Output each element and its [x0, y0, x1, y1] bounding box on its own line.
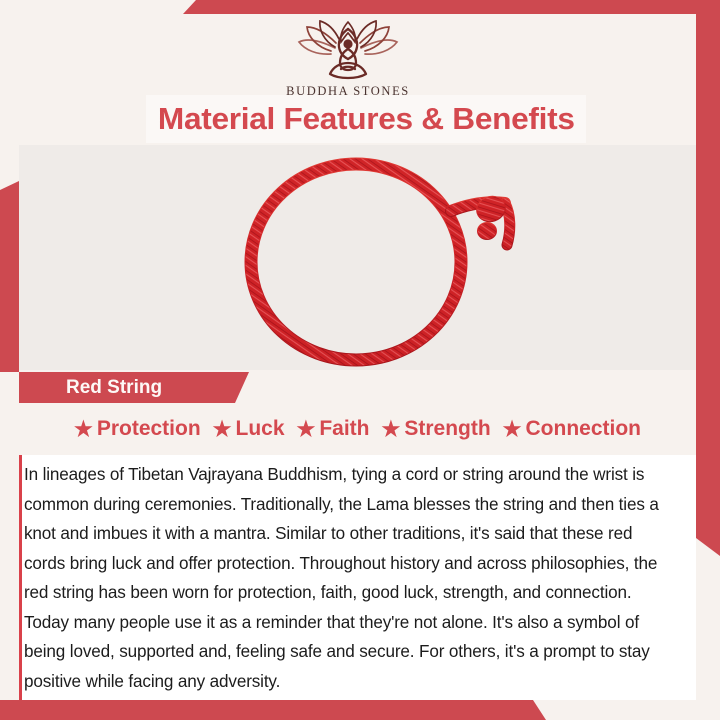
page-title: Material Features & Benefits [146, 95, 586, 143]
benefit-item-luck: ★ Luck [207, 417, 291, 441]
product-label-ribbon: Red String [19, 372, 249, 403]
description-text: In lineages of Tibetan Vajrayana Buddhis… [24, 460, 676, 696]
lotus-meditation-icon [289, 20, 407, 82]
product-label-text: Red String [66, 377, 162, 399]
benefit-item-faith: ★ Faith [291, 417, 376, 441]
benefits-row: ★ Protection ★ Luck ★ Faith ★ Strength ★… [19, 405, 696, 453]
page-title-text: Material Features & Benefits [158, 101, 575, 137]
product-image [19, 145, 696, 370]
bottom-red-band [0, 700, 720, 720]
top-red-band [0, 0, 720, 14]
star-icon: ★ [382, 419, 401, 440]
benefit-label: Luck [236, 417, 285, 441]
benefit-label: Faith [319, 417, 369, 441]
red-string-bracelet-illustration [19, 145, 696, 370]
infographic-page: BUDDHA STONES Material Features & Benefi… [0, 0, 720, 720]
benefit-label: Strength [404, 417, 490, 441]
description-panel: In lineages of Tibetan Vajrayana Buddhis… [22, 455, 696, 700]
star-icon: ★ [213, 419, 232, 440]
benefit-item-protection: ★ Protection [68, 417, 207, 441]
star-icon: ★ [503, 419, 522, 440]
star-icon: ★ [297, 419, 316, 440]
star-icon: ★ [74, 419, 93, 440]
left-red-bar [0, 181, 19, 372]
brand-logo: BUDDHA STONES [0, 20, 696, 99]
benefit-label: Connection [526, 417, 642, 441]
right-red-bar [696, 0, 720, 556]
benefit-item-connection: ★ Connection [497, 417, 647, 441]
benefit-item-strength: ★ Strength [376, 417, 497, 441]
benefit-label: Protection [97, 417, 201, 441]
